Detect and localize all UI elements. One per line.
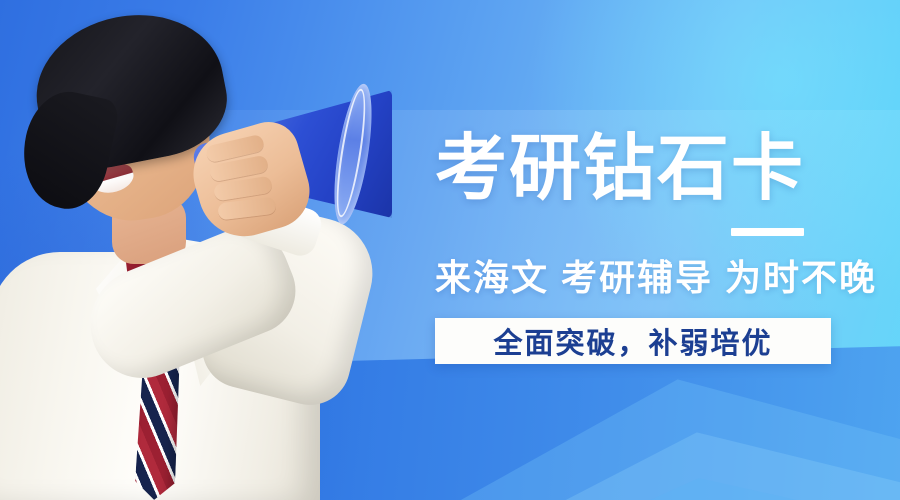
underline-rule (731, 228, 804, 236)
student-figure (0, 0, 430, 500)
banner-headline: 考研钻石卡 (435, 130, 875, 208)
banner-subheadline: 来海文 考研辅导 为时不晚 (435, 258, 875, 298)
banner-badge-label: 全面突破，补弱培优 (493, 320, 772, 362)
promo-banner: 考研钻石卡 来海文 考研辅导 为时不晚 全面突破，补弱培优 (0, 0, 900, 500)
banner-copy: 考研钻石卡 来海文 考研辅导 为时不晚 全面突破，补弱培优 (435, 130, 875, 364)
banner-badge: 全面突破，补弱培优 (435, 318, 831, 364)
